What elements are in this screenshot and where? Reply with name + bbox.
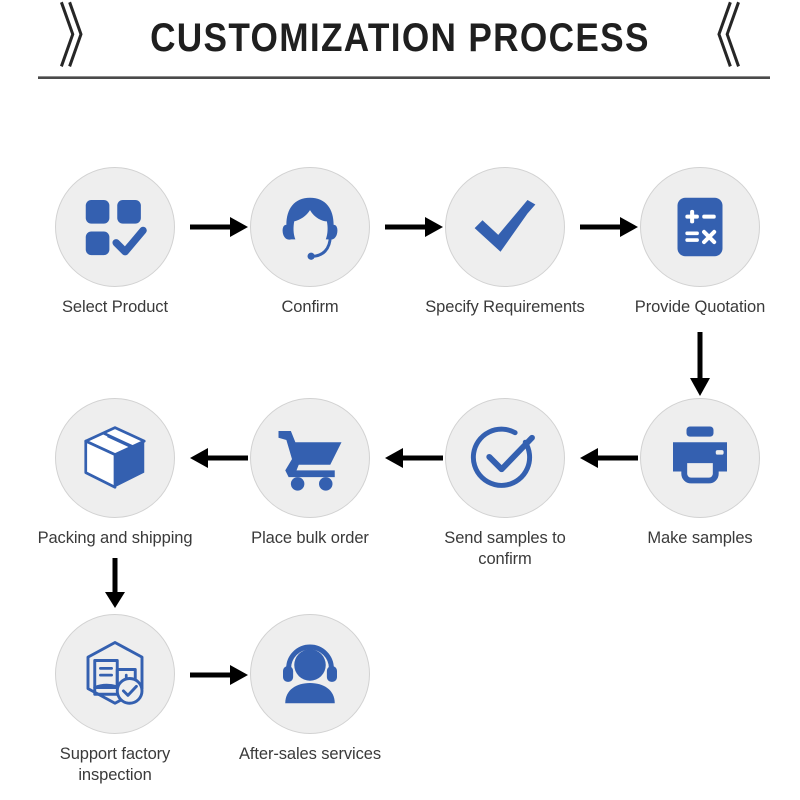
node-circle: [445, 398, 565, 518]
page-title: CUSTOMIZATION PROCESS: [150, 16, 650, 60]
check-circle-icon: [469, 422, 541, 494]
calculator-icon: [664, 191, 736, 263]
node-circle: [640, 398, 760, 518]
package-box-icon: [79, 422, 151, 494]
support-agent-woman-icon: [274, 191, 346, 263]
flow-node-send-samples[interactable]: Send samples to confirm: [425, 398, 585, 570]
chevron-right-decor: 《: [690, 3, 742, 73]
printer-icon: [664, 422, 736, 494]
flow-node-confirm[interactable]: Confirm: [230, 167, 390, 318]
factory-inspection-icon: [79, 638, 151, 710]
flow-node-label: Provide Quotation: [620, 297, 780, 318]
title-divider: [38, 76, 770, 79]
checkmark-icon: [469, 191, 541, 263]
node-circle: [250, 398, 370, 518]
flow-node-label: Packing and shipping: [35, 528, 195, 549]
flow-node-label: Make samples: [620, 528, 780, 549]
flow-node-support-factory-inspection[interactable]: Support factory inspection: [35, 614, 195, 786]
chevron-left-decor: 》: [58, 3, 110, 73]
node-circle: [250, 614, 370, 734]
headset-person-icon: [274, 638, 346, 710]
flow-node-label: Support factory inspection: [35, 744, 195, 786]
node-circle: [640, 167, 760, 287]
connector-row2-to-row3: [100, 556, 130, 610]
header: 》 CUSTOMIZATION PROCESS 《: [0, 0, 800, 90]
flow-node-place-bulk-order[interactable]: Place bulk order: [230, 398, 390, 549]
flow-node-make-samples[interactable]: Make samples: [620, 398, 780, 549]
node-circle: [55, 398, 175, 518]
node-circle: [445, 167, 565, 287]
flow-node-label: Confirm: [230, 297, 390, 318]
flow-node-select-product[interactable]: Select Product: [35, 167, 195, 318]
node-circle: [55, 167, 175, 287]
title-row: 》 CUSTOMIZATION PROCESS 《: [0, 8, 800, 68]
flow-node-provide-quotation[interactable]: Provide Quotation: [620, 167, 780, 318]
connector-row1-to-row2: [685, 330, 715, 398]
flow-node-label: After-sales services: [230, 744, 390, 765]
flow-node-label: Send samples to confirm: [425, 528, 585, 570]
node-circle: [250, 167, 370, 287]
flow-node-label: Select Product: [35, 297, 195, 318]
shopping-cart-icon: [274, 422, 346, 494]
flow-node-packing-and-shipping[interactable]: Packing and shipping: [35, 398, 195, 549]
grid-check-icon: [79, 191, 151, 263]
flow-node-label: Specify Requirements: [425, 297, 585, 318]
flow-node-specify-requirements[interactable]: Specify Requirements: [425, 167, 585, 318]
flow-node-after-sales-services[interactable]: After-sales services: [230, 614, 390, 765]
node-circle: [55, 614, 175, 734]
flow-node-label: Place bulk order: [230, 528, 390, 549]
